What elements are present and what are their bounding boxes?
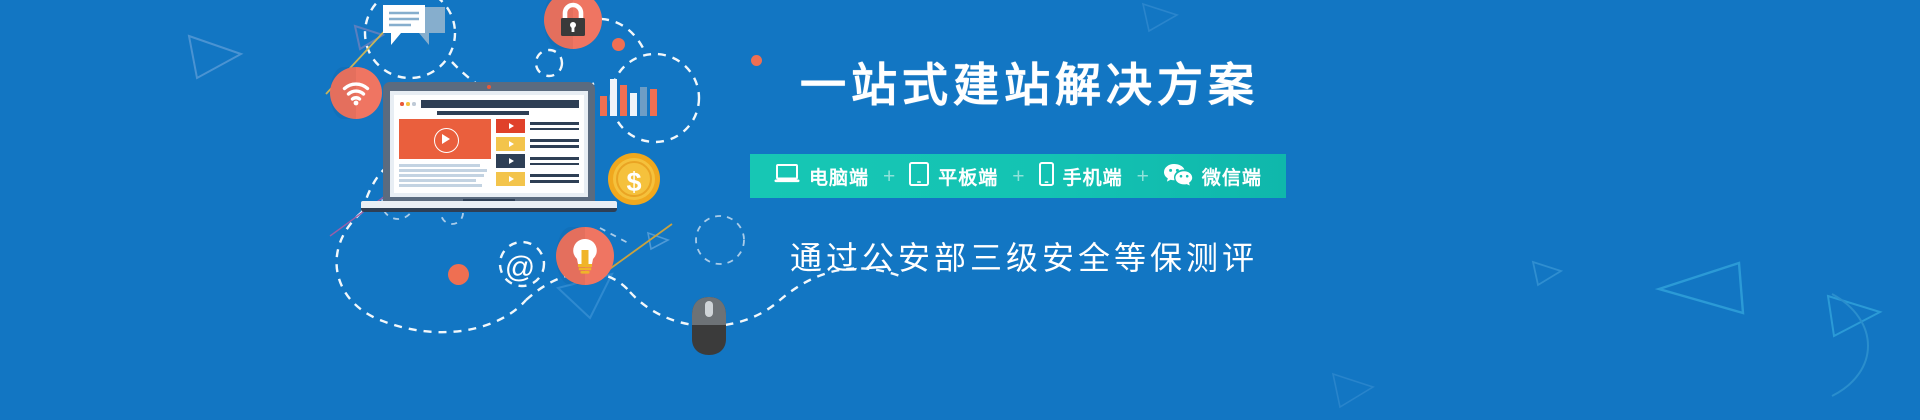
browser-traffic-lights	[400, 102, 416, 106]
decor-triangle-icon	[1655, 255, 1747, 317]
bar-chart-icon	[600, 72, 660, 116]
laptop-icon	[774, 164, 800, 189]
accent-dot	[448, 264, 469, 285]
computer-mouse-icon	[688, 295, 730, 357]
badge-label-wechat: 微信端	[1202, 163, 1262, 190]
play-icon	[509, 176, 514, 182]
lightbulb-icon	[556, 227, 614, 285]
coin-dollar-icon: $	[607, 152, 661, 206]
badge-label-tablet: 平板端	[938, 163, 998, 190]
wechat-icon	[1163, 162, 1193, 191]
lock-icon	[544, 0, 602, 49]
play-icon	[509, 141, 514, 147]
platform-badge-bar: 电脑端 + 平板端 + 手机端 +	[750, 154, 1286, 198]
tablet-icon	[909, 162, 929, 191]
chat-bubble-icon	[381, 3, 447, 55]
promo-banner: $ @	[0, 0, 1920, 420]
badge-item-tablet[interactable]: 平板端	[899, 162, 1008, 191]
thumbnail-item	[496, 119, 525, 133]
badge-label-mobile: 手机端	[1063, 163, 1123, 190]
laptop-base-shadow	[361, 208, 617, 212]
laptop-lid	[383, 82, 595, 204]
thumbnail-item	[496, 172, 525, 186]
text-column	[530, 119, 579, 189]
play-button-icon	[442, 134, 450, 144]
badge-item-mobile[interactable]: 手机端	[1029, 162, 1133, 191]
accent-dot	[751, 55, 762, 66]
at-sign-icon: @	[497, 245, 543, 291]
badge-label-desktop: 电脑端	[809, 163, 869, 190]
badge-item-wechat[interactable]: 微信端	[1153, 162, 1272, 191]
wifi-icon	[330, 67, 382, 119]
decor-triangle-icon	[1530, 258, 1564, 288]
accent-dot	[612, 38, 625, 51]
svg-text:$: $	[626, 167, 641, 197]
thumbnail-item	[496, 137, 525, 151]
badge-item-desktop[interactable]: 电脑端	[764, 163, 879, 190]
decor-triangle-icon	[185, 30, 245, 84]
laptop-illustration	[383, 82, 595, 214]
browser-address-bar	[421, 100, 580, 108]
play-icon	[509, 123, 514, 129]
laptop-camera-dot	[487, 85, 491, 89]
badge-separator: +	[1133, 166, 1153, 187]
badge-separator: +	[1008, 166, 1028, 187]
play-icon	[509, 158, 514, 164]
hero-video-block	[399, 119, 491, 159]
browser-toolbar	[399, 100, 579, 108]
phone-icon	[1039, 162, 1054, 191]
decor-triangle-icon	[645, 230, 671, 252]
page-title: 一站式建站解决方案	[800, 62, 1259, 108]
decor-triangle-icon	[1330, 370, 1376, 410]
badge-separator: +	[879, 166, 899, 187]
decor-triangle-icon	[1824, 290, 1884, 340]
laptop-screen	[390, 91, 588, 197]
thumbnail-item	[496, 154, 525, 168]
page-subtitle: 通过公安部三级安全等保测评	[790, 233, 1258, 279]
decor-triangle-icon	[1140, 0, 1180, 34]
hero-column	[399, 119, 491, 189]
decor-arc-icon	[1822, 290, 1892, 400]
thumbnail-column	[496, 119, 525, 189]
page-subheading-bar	[437, 111, 529, 115]
